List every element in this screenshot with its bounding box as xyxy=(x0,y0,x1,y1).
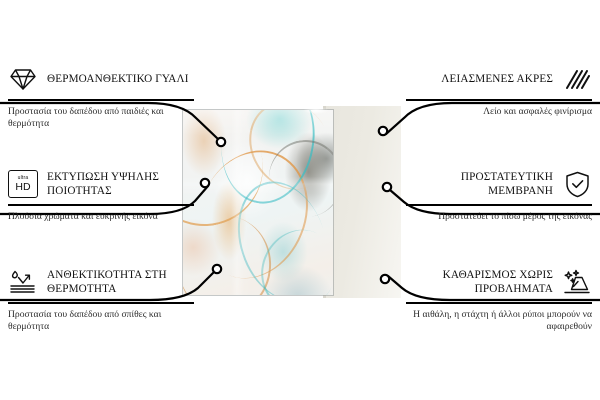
feature-description: Προστασία του δαπέδου από παιδιές και θε… xyxy=(8,106,194,131)
feature-header: ΚΑΘΑΡΙΣΜΟΣ ΧΩΡΙΣ ΠΡΟΒΛΗΜΑΤΑ xyxy=(406,266,592,298)
feature-header: ΠΡΟΣΤΑΤΕΥΤΙΚΗ ΜΕΜΒΡΑΝΗ xyxy=(406,168,592,200)
ultra-hd-icon: ultra HD xyxy=(8,169,38,199)
ultra-hd-badge-bottom: HD xyxy=(15,182,30,193)
feature-divider xyxy=(8,302,194,304)
feature-description: Προστατεύει το πίσω μέρος της εικόνας xyxy=(406,211,592,223)
feature-description: Πλούσια χρώματα και ευκρινής εικόνα xyxy=(8,211,194,223)
feature-easy-cleaning: ΚΑΘΑΡΙΣΜΟΣ ΧΩΡΙΣ ΠΡΟΒΛΗΜΑΤΑ Η αιθάλη, η … xyxy=(406,266,592,334)
feature-divider xyxy=(406,302,592,304)
feature-title: ΠΡΟΣΤΑΤΕΥΤΙΚΗ ΜΕΜΒΡΑΝΗ xyxy=(406,170,553,198)
feature-description: Η αιθάλη, η στάχτη ή άλλοι ρύποι μπορούν… xyxy=(406,309,592,334)
abstract-ink-artwork xyxy=(183,110,333,295)
glass-panel-product xyxy=(183,110,333,295)
feature-title: ΛΕΙΑΣΜΕΝΕΣ ΑΚΡΕΣ xyxy=(441,72,553,86)
feature-title: ΘΕΡΜΟΑΝΘΕΚΤΙΚΟ ΓΥΑΛΙ xyxy=(47,72,189,86)
shield-check-icon xyxy=(562,169,592,199)
feature-smoothed-edges: ΛΕΙΑΣΜΕΝΕΣ ΑΚΡΕΣ Λείο και ασφαλές φινίρι… xyxy=(406,63,592,118)
feature-title: ΑΝΘΕΚΤΙΚΟΤΗΤΑ ΣΤΗ ΘΕΡΜΟΤΗΤΑ xyxy=(47,268,194,296)
feature-divider xyxy=(406,99,592,101)
infographic-page: ΘΕΡΜΟΑΝΘΕΚΤΙΚΟ ΓΥΑΛΙ Προστασία του δαπέδ… xyxy=(0,0,600,400)
feature-heat-resistant-glass: ΘΕΡΜΟΑΝΘΕΚΤΙΚΟ ΓΥΑΛΙ Προστασία του δαπέδ… xyxy=(8,63,194,131)
feature-header: ΑΝΘΕΚΤΙΚΟΤΗΤΑ ΣΤΗ ΘΕΡΜΟΤΗΤΑ xyxy=(8,266,194,298)
feature-header: ΘΕΡΜΟΑΝΘΕΚΤΙΚΟ ΓΥΑΛΙ xyxy=(8,63,194,95)
feature-high-quality-print: ultra HD ΕΚΤΥΠΩΣΗ ΥΨΗΛΗΣ ΠΟΙΟΤΗΤΑΣ Πλούσ… xyxy=(8,168,194,223)
feature-divider xyxy=(406,204,592,206)
feature-header: ultra HD ΕΚΤΥΠΩΣΗ ΥΨΗΛΗΣ ΠΟΙΟΤΗΤΑΣ xyxy=(8,168,194,200)
wall-panel xyxy=(323,106,401,298)
diamond-icon xyxy=(8,64,38,94)
smoothed-edges-icon xyxy=(562,64,592,94)
feature-protective-film: ΠΡΟΣΤΑΤΕΥΤΙΚΗ ΜΕΜΒΡΑΝΗ Προστατεύει το πί… xyxy=(406,168,592,223)
feature-divider xyxy=(8,204,194,206)
feature-divider xyxy=(8,99,194,101)
feature-title: ΚΑΘΑΡΙΣΜΟΣ ΧΩΡΙΣ ΠΡΟΒΛΗΜΑΤΑ xyxy=(406,268,553,296)
feature-description: Προστασία του δαπέδου από σπίθες και θερ… xyxy=(8,309,194,334)
feature-heat-resistance: ΑΝΘΕΚΤΙΚΟΤΗΤΑ ΣΤΗ ΘΕΡΜΟΤΗΤΑ Προστασία το… xyxy=(8,266,194,334)
ultra-hd-badge-top: ultra xyxy=(18,176,29,181)
feature-title: ΕΚΤΥΠΩΣΗ ΥΨΗΛΗΣ ΠΟΙΟΤΗΤΑΣ xyxy=(47,170,194,198)
feature-header: ΛΕΙΑΣΜΕΝΕΣ ΑΚΡΕΣ xyxy=(406,63,592,95)
feature-description: Λείο και ασφαλές φινίρισμα xyxy=(406,106,592,118)
heat-resistance-icon xyxy=(8,267,38,297)
product-scene xyxy=(183,110,398,295)
sparkle-clean-icon xyxy=(562,267,592,297)
